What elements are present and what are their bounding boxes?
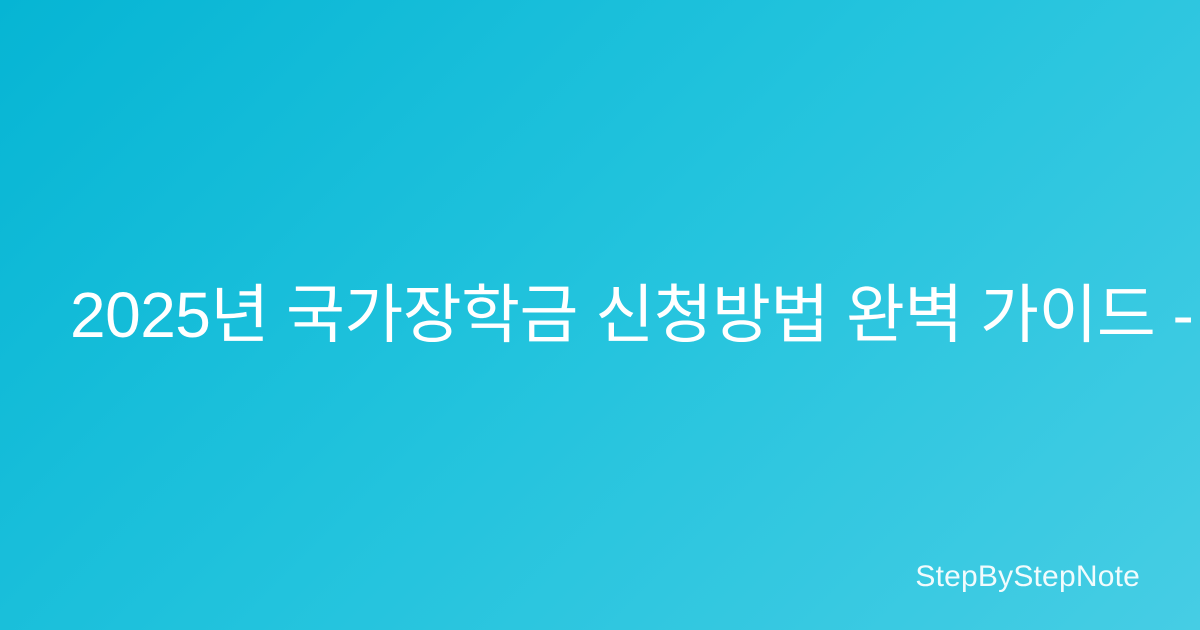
title-container: 2025년 국가장학금 신청방법 완벽 가이드 - xyxy=(70,0,1200,630)
brand-watermark: StepByStepNote xyxy=(915,562,1140,592)
card-title: 2025년 국가장학금 신청방법 완벽 가이드 - xyxy=(70,276,1193,354)
share-card: 2025년 국가장학금 신청방법 완벽 가이드 - StepByStepNote xyxy=(0,0,1200,630)
